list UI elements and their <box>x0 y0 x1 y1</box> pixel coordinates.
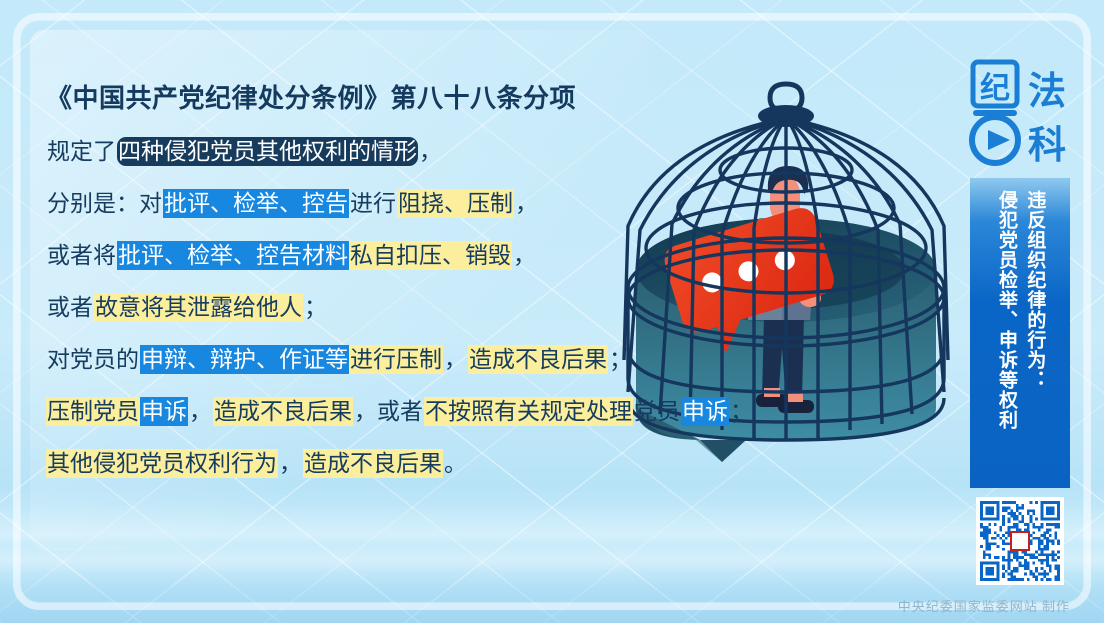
clause-segment: 对党员的 <box>46 345 140 374</box>
logo-char-ke: 科 <box>1028 125 1066 167</box>
clause-segment: 不按照有关规定处理 <box>424 397 633 426</box>
qr-code[interactable] <box>976 497 1064 585</box>
clause-segment: 批评、检举、控告 <box>163 189 349 218</box>
footer-credit: 中央纪委国家监委网站 制作 <box>898 596 1070 615</box>
clause-segment: ， <box>278 449 303 478</box>
qr-center-seal <box>1010 531 1030 551</box>
clause-line: 或者将批评、检举、控告材料私自扣压、销毁， <box>46 235 746 275</box>
clause-segment: 造成不良后果 <box>468 345 608 374</box>
clause-segment: 规定了 <box>46 137 117 166</box>
clause-segment: ， <box>514 189 539 218</box>
clause-segment: ， <box>443 345 468 374</box>
clause-segment: 进行 <box>349 189 397 218</box>
clause-segment: 申辩、辩护、作证等 <box>140 345 349 374</box>
clause-segment: 分别是：对 <box>46 189 163 218</box>
clause-line: 或者故意将其泄露给他人； <box>46 287 746 327</box>
clause-line: 压制党员申诉，造成不良后果，或者不按照有关规定处理党员申诉； <box>46 391 746 431</box>
clause-segment: ； <box>729 397 754 426</box>
clause-segment: ， <box>188 397 213 426</box>
clause-segment: 四种侵犯党员其他权利的情形 <box>117 137 418 166</box>
clause-segment: ， <box>418 137 443 166</box>
banner-column-right: 违反组织纪律的行为： <box>1022 190 1046 390</box>
clause-lines: 规定了四种侵犯党员其他权利的情形，分别是：对批评、检举、控告进行阻挠、压制，或者… <box>46 131 746 483</box>
clause-segment: 。 <box>443 449 468 478</box>
clause-line: 规定了四种侵犯党员其他权利的情形， <box>46 131 746 171</box>
banner-column-left: 侵犯党员检举、申诉等权利 <box>994 190 1018 430</box>
jifa-baike-logo: 纪 法 科 <box>967 52 1073 170</box>
clause-line: 分别是：对批评、检举、控告进行阻挠、压制， <box>46 183 746 223</box>
clause-line: 对党员的申辩、辩护、作证等进行压制，造成不良后果； <box>46 339 746 379</box>
clause-segment: 故意将其泄露给他人 <box>94 293 303 322</box>
clause-segment: 造成不良后果 <box>303 449 443 478</box>
clause-segment: 申诉 <box>681 397 729 426</box>
clause-segment: ； <box>303 293 328 322</box>
page-title: 《中国共产党纪律处分条例》第八十八条分项 <box>46 78 746 115</box>
clause-segment: 或者将 <box>46 241 117 270</box>
right-rail: 纪 法 科 违反组织纪律的行为： 侵犯党员检举、申诉等权利 <box>964 52 1076 585</box>
clause-segment: 批评、检举、控告材料 <box>117 241 349 270</box>
clause-segment: 造成不良后果 <box>213 397 353 426</box>
clause-segment: ，或者 <box>353 397 424 426</box>
clause-segment: 或者 <box>46 293 94 322</box>
clause-segment: 其他侵犯党员权利行为 <box>46 449 278 478</box>
vertical-topic-banner: 违反组织纪律的行为： 侵犯党员检举、申诉等权利 <box>970 178 1070 488</box>
clause-segment: 进行压制 <box>349 345 443 374</box>
clause-segment: ， <box>512 241 537 270</box>
article-text-block: 《中国共产党纪律处分条例》第八十八条分项 规定了四种侵犯党员其他权利的情形，分别… <box>46 78 746 495</box>
clause-segment: 阻挠、压制 <box>397 189 514 218</box>
logo-char-fa: 法 <box>1028 71 1066 113</box>
clause-segment: 申诉 <box>140 397 188 426</box>
clause-segment: 私自扣压、销毁 <box>349 241 512 270</box>
clause-line: 其他侵犯党员权利行为，造成不良后果。 <box>46 443 746 483</box>
clause-segment: 压制党员 <box>46 397 140 426</box>
clause-segment: 党员 <box>633 397 681 426</box>
clause-segment: ； <box>608 345 633 374</box>
logo-char-ji: 纪 <box>980 72 1010 105</box>
poster-canvas: 《中国共产党纪律处分条例》第八十八条分项 规定了四种侵犯党员其他权利的情形，分别… <box>0 0 1104 623</box>
